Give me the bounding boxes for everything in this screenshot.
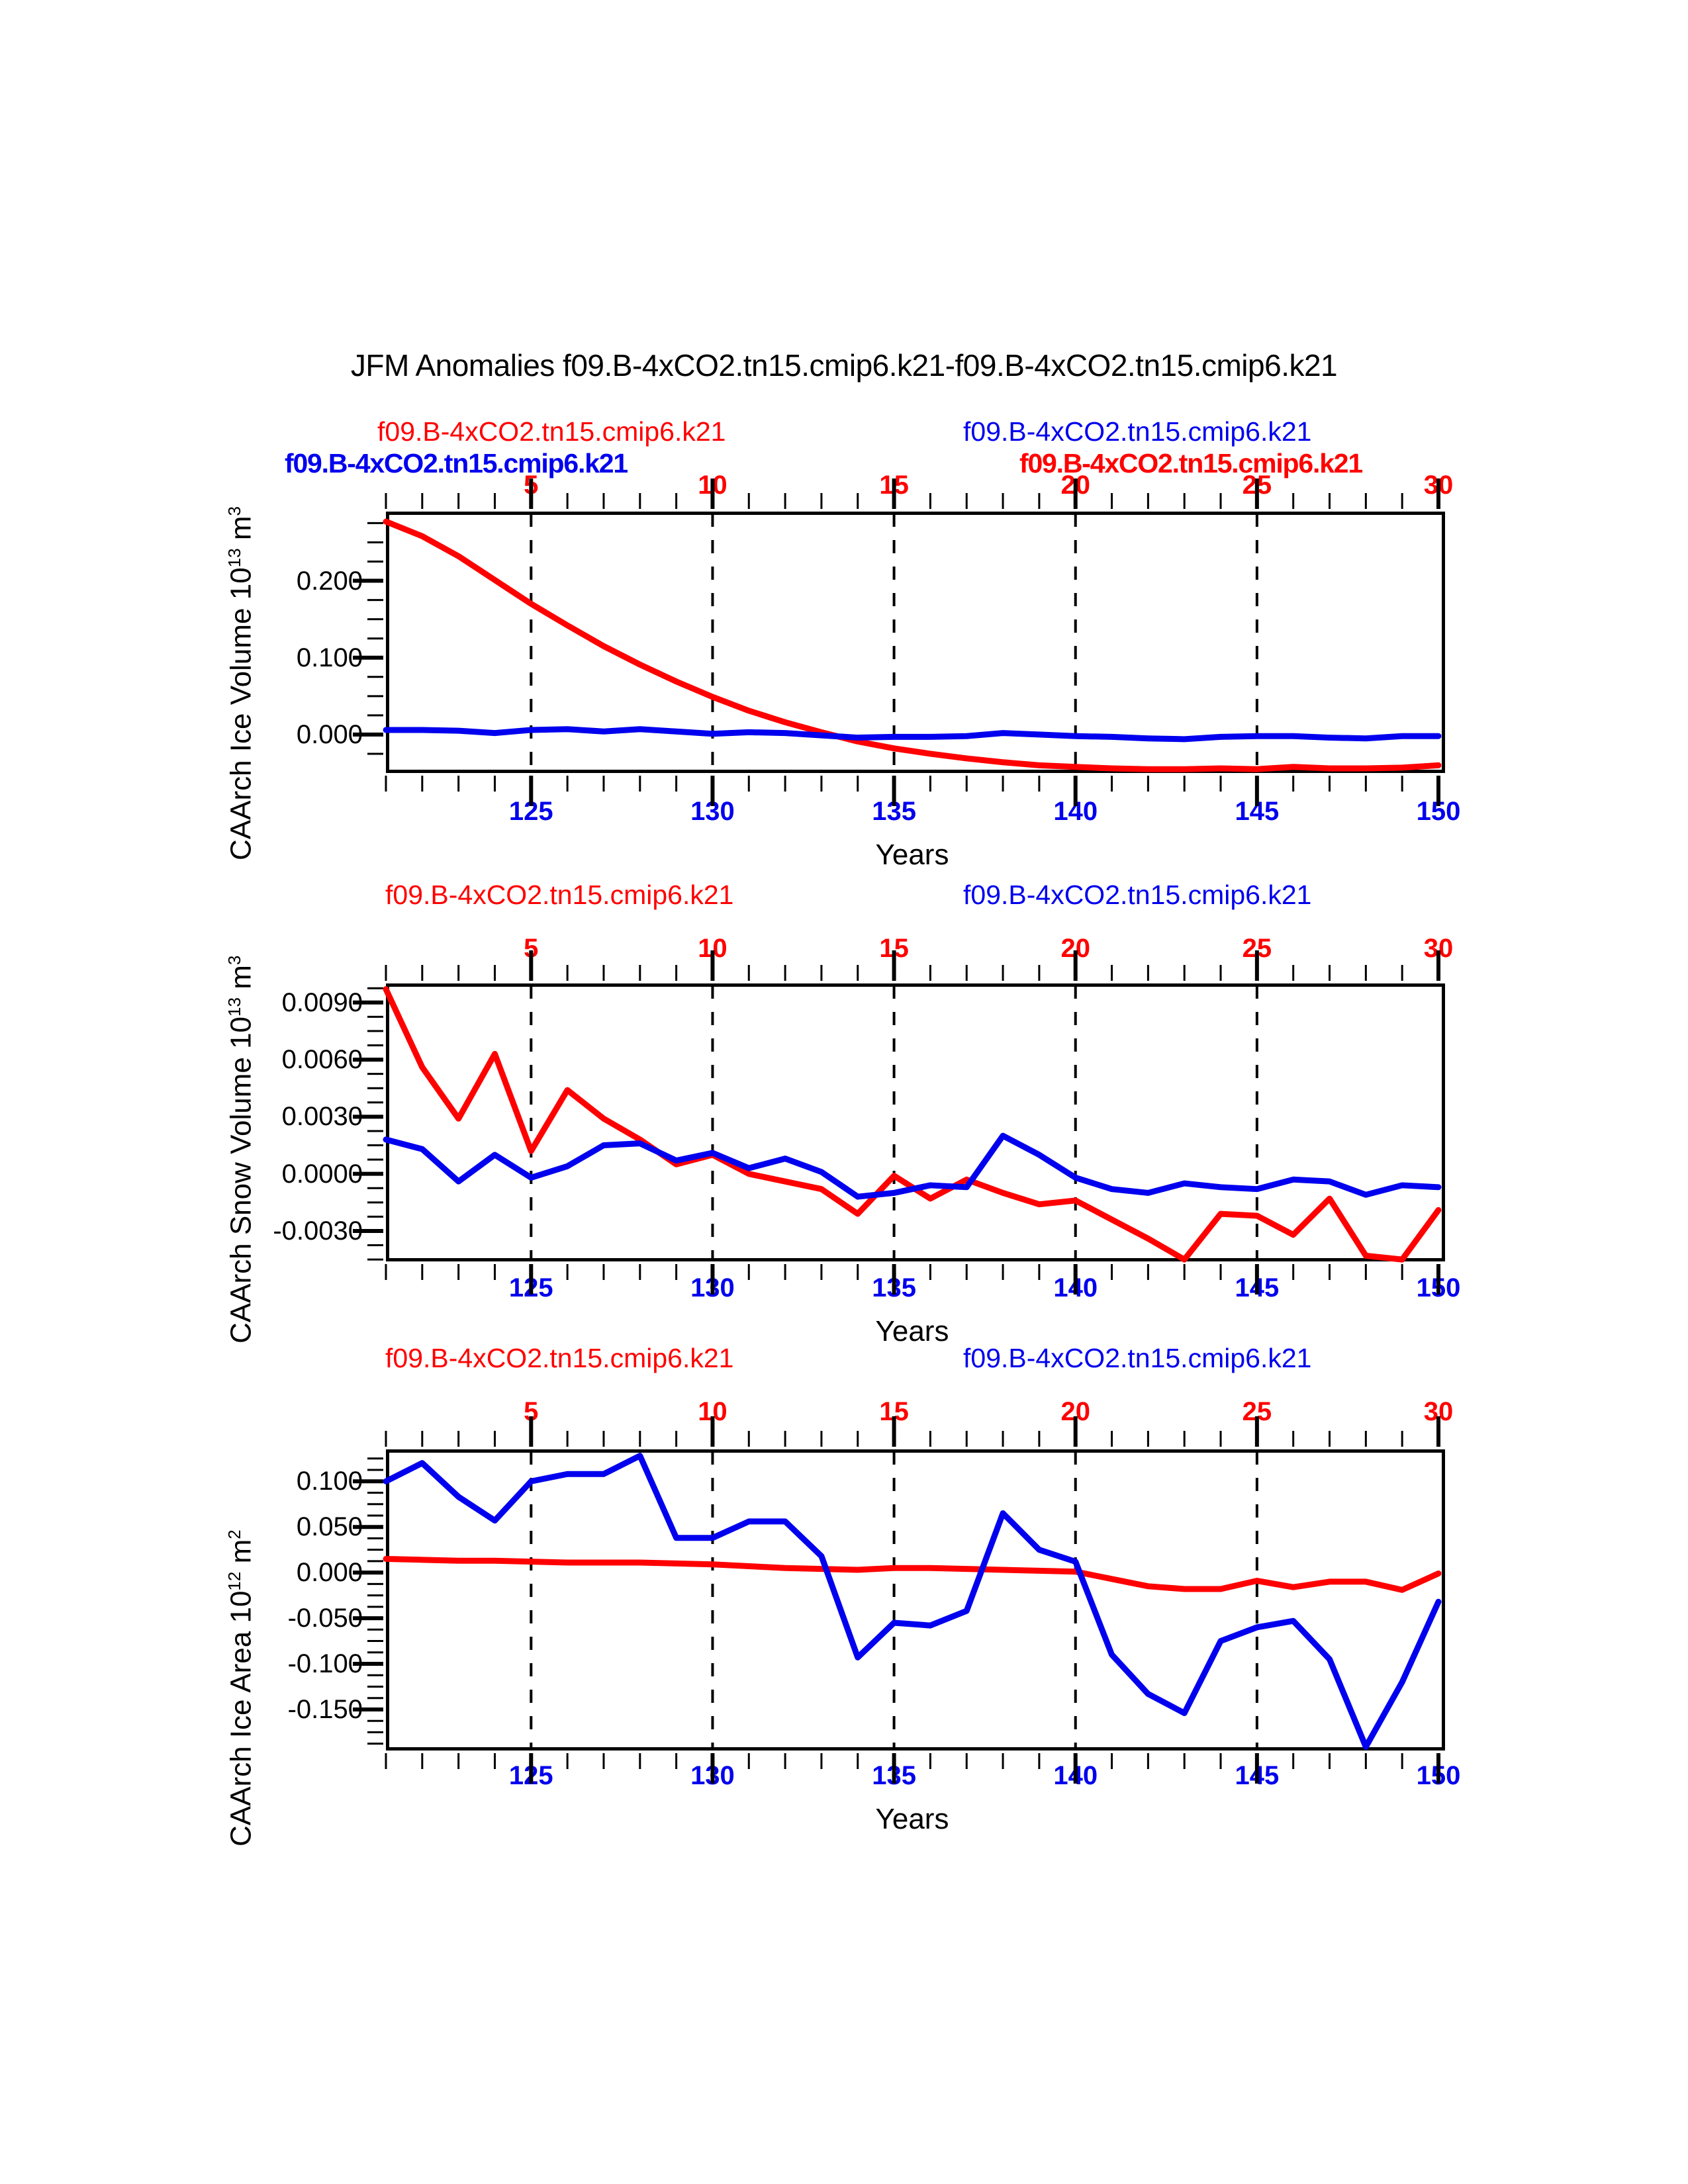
data-series-line-red bbox=[386, 1559, 1438, 1590]
plot-svg bbox=[0, 0, 1688, 2184]
chart-page: JFM Anomalies f09.B-4xCO2.tn15.cmip6.k21… bbox=[0, 0, 1688, 2184]
data-series-line-blue bbox=[386, 1456, 1438, 1747]
